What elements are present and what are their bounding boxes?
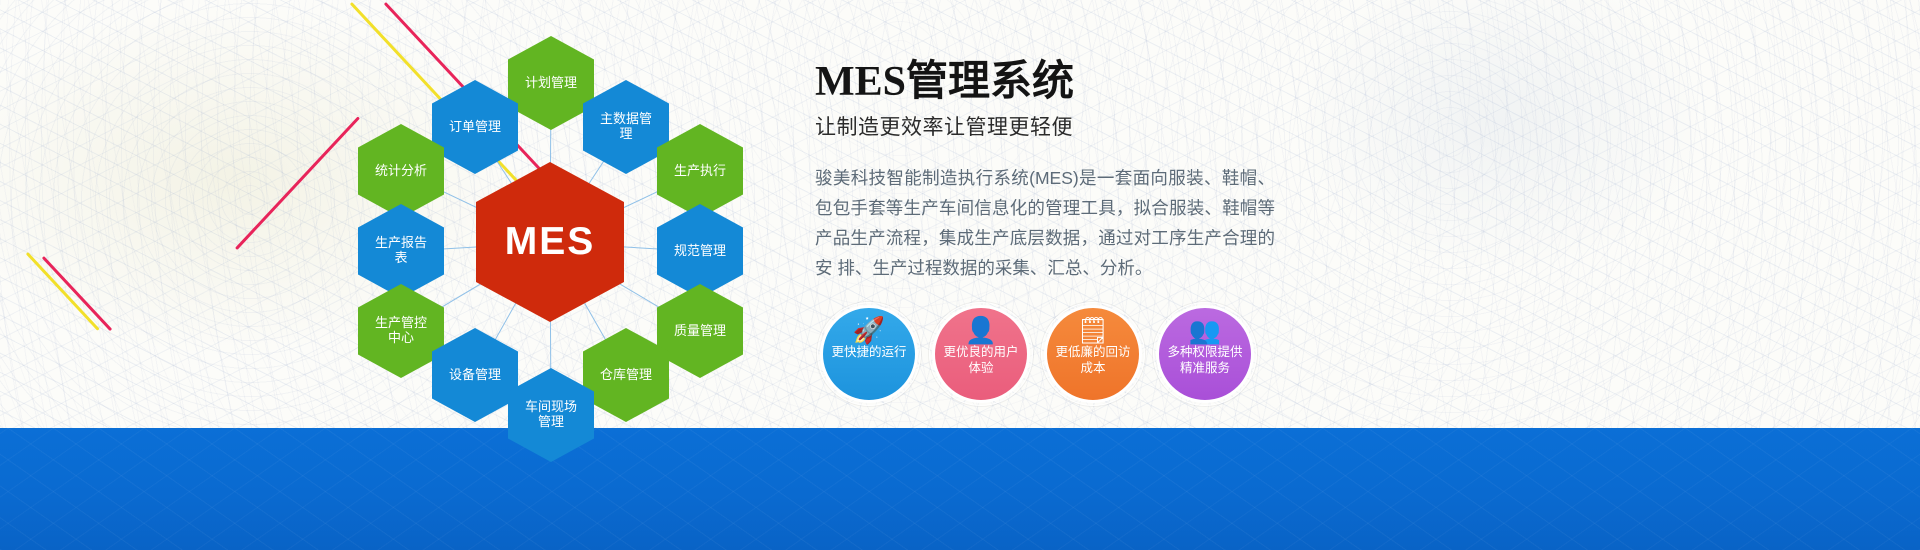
badge-label: 更低廉的回访成本 [1047,345,1139,376]
hex-production-control-center[interactable]: 生产管控中心 [358,284,444,378]
rocket-icon: 🚀 [853,316,885,344]
user-icon: 👤 [965,316,997,344]
hex-label: 规范管理 [674,244,726,259]
hex-core-label: MES [505,220,596,265]
badge-label: 更快捷的运行 [825,345,912,361]
hex-production-execution[interactable]: 生产执行 [657,124,743,218]
feature-badge-list: 🚀更快捷的运行👤更优良的用户体验🗒更低廉的回访成本👥多种权限提供精准服务 [820,305,1254,403]
hex-label: 生产执行 [674,164,726,179]
badge-label: 多种权限提供精准服务 [1159,345,1251,376]
hex-standard-management[interactable]: 规范管理 [657,204,743,298]
hex-label: 生产管控中心 [370,316,432,346]
hex-label: 仓库管理 [600,368,652,383]
description-paragraph: 骏美科技智能制造执行系统(MES)是一套面向服装、鞋帽、包包手套等生产车间信息化… [815,163,1275,283]
hex-label: 统计分析 [375,164,427,179]
mes-hexagon-diagram: 计划管理订单管理主数据管理统计分析生产执行生产报告表规范管理生产管控中心质量管理… [330,20,770,430]
list-icon: 🗒 [1076,316,1109,344]
hex-equipment-management[interactable]: 设备管理 [432,328,518,422]
badge-faster-operation[interactable]: 🚀更快捷的运行 [820,305,918,403]
page-title: MES管理系统 [815,60,1275,105]
hex-label: 生产报告表 [370,236,432,266]
hex-label: 车间现场管理 [520,400,582,430]
badge-precise-permission-service[interactable]: 👥多种权限提供精准服务 [1156,305,1254,403]
hex-warehouse-management[interactable]: 仓库管理 [583,328,669,422]
hex-statistical-analysis[interactable]: 统计分析 [358,124,444,218]
banner-copy: MES管理系统 让制造更效率让管理更轻便 骏美科技智能制造执行系统(MES)是一… [815,60,1275,283]
page-subtitle: 让制造更效率让管理更轻便 [815,111,1275,141]
badge-lower-revisit-cost[interactable]: 🗒更低廉的回访成本 [1044,305,1142,403]
hex-plan-management[interactable]: 计划管理 [508,36,594,130]
hex-quality-management[interactable]: 质量管理 [657,284,743,378]
badge-better-user-experience[interactable]: 👤更优良的用户体验 [932,305,1030,403]
users-icon: 👥 [1189,316,1221,344]
hex-label: 设备管理 [449,368,501,383]
bottom-blue-band [0,428,1920,550]
hex-core-mes[interactable]: MES [476,162,624,322]
hex-label: 订单管理 [449,120,501,135]
hex-label: 主数据管理 [595,112,657,142]
hex-label: 质量管理 [674,324,726,339]
mes-promo-banner: 计划管理订单管理主数据管理统计分析生产执行生产报告表规范管理生产管控中心质量管理… [0,0,1920,550]
hex-master-data-management[interactable]: 主数据管理 [583,80,669,174]
badge-label: 更优良的用户体验 [935,345,1027,376]
hex-order-management[interactable]: 订单管理 [432,80,518,174]
hex-production-report[interactable]: 生产报告表 [358,204,444,298]
hex-label: 计划管理 [525,76,577,91]
